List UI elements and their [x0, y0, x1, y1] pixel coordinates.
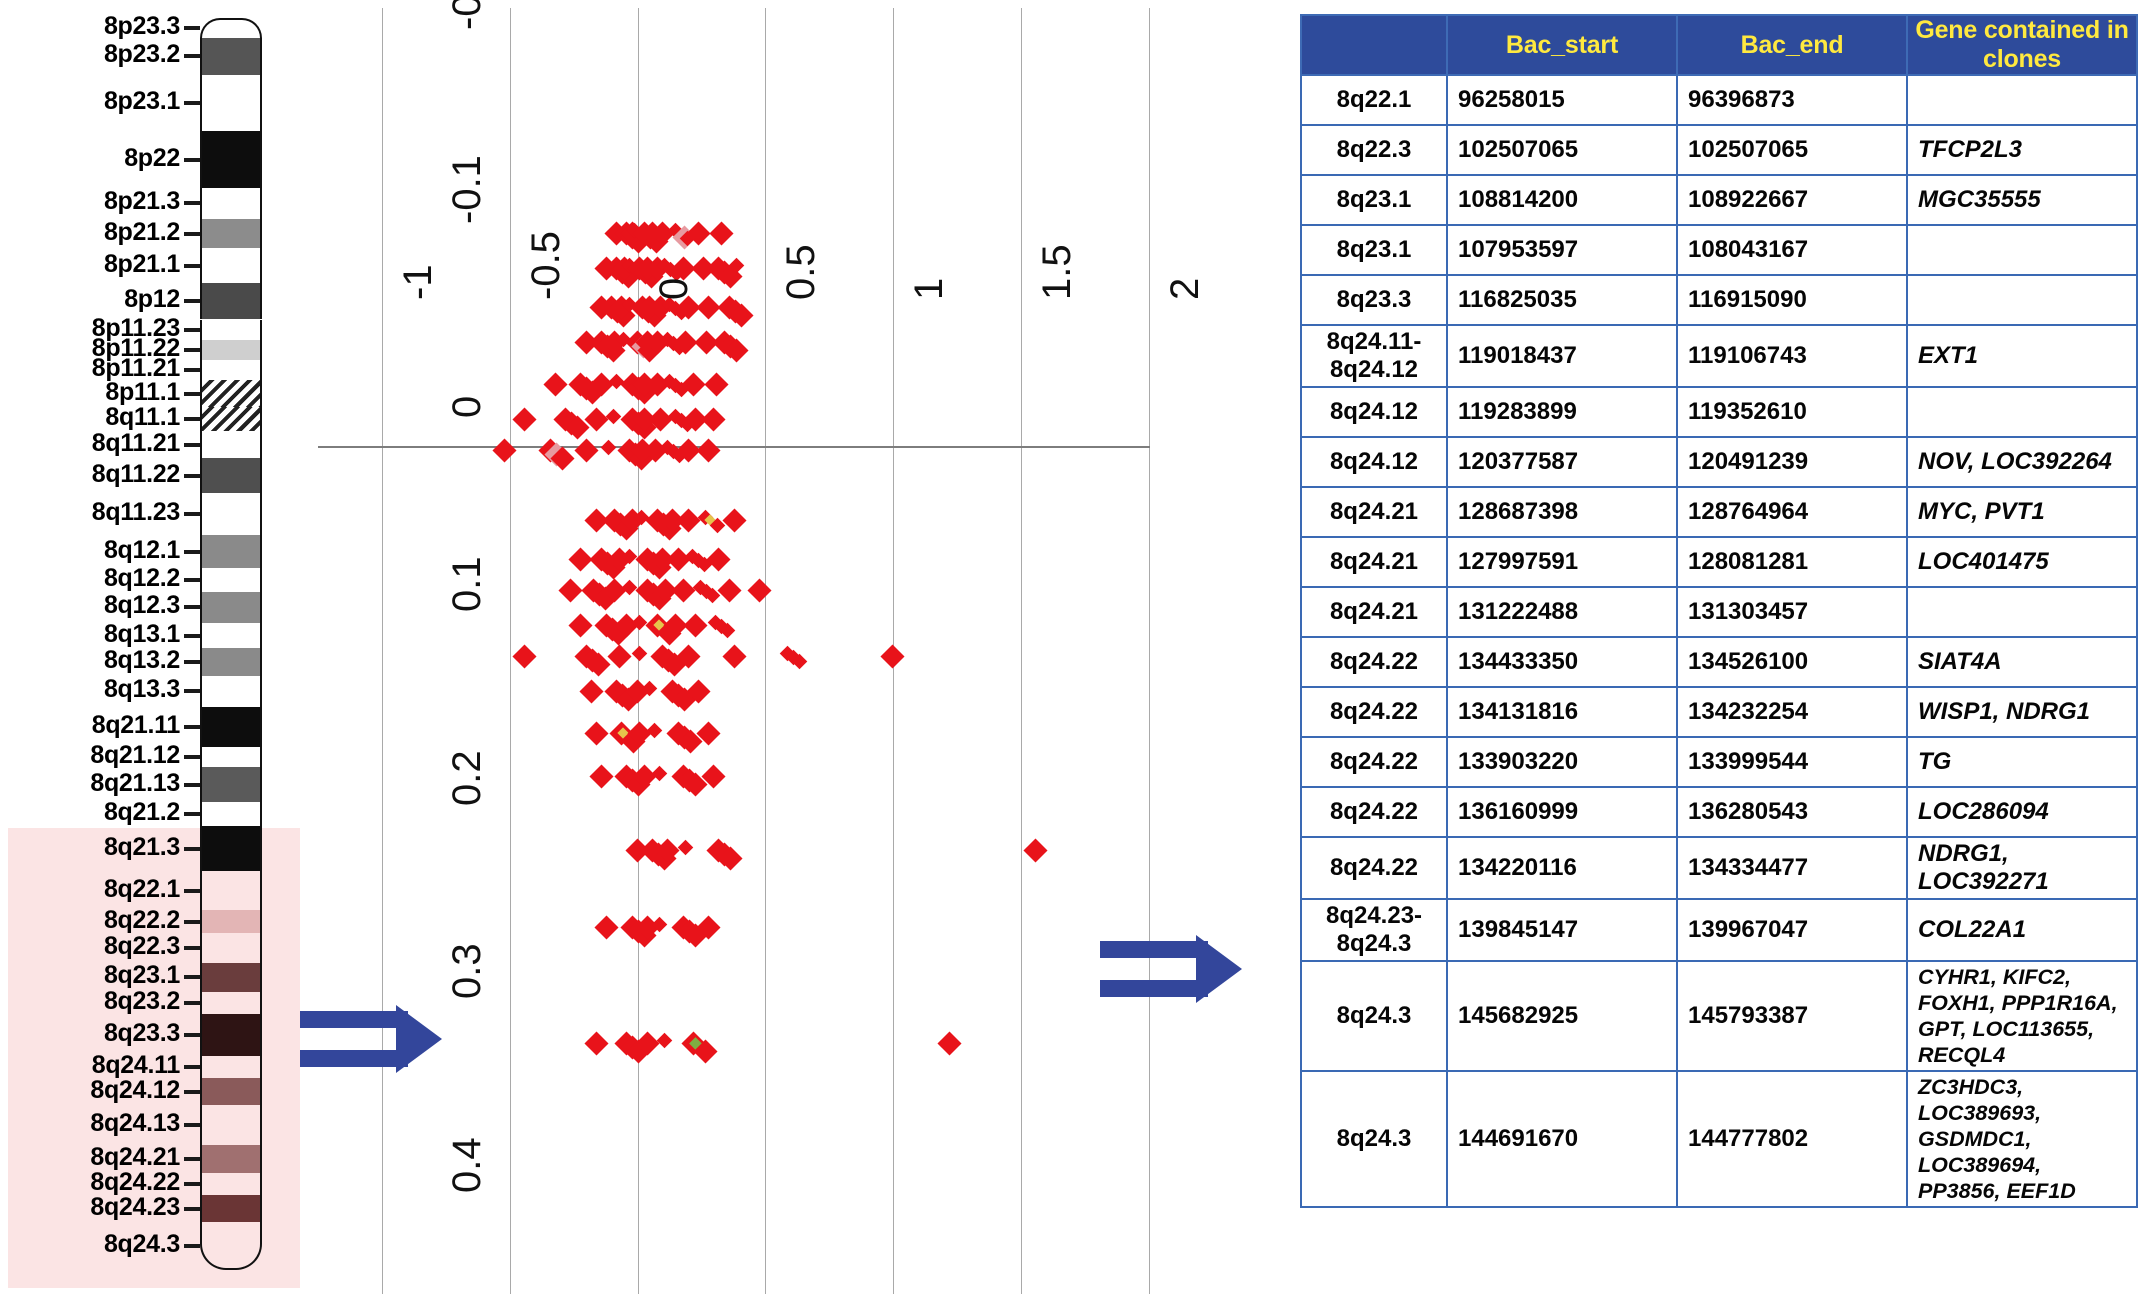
- cell-genes: [1907, 225, 2137, 275]
- ideogram-band: [200, 188, 262, 219]
- cell-bac-end: 108922667: [1677, 175, 1907, 225]
- band-tick: [184, 1182, 200, 1186]
- ideogram-band: [200, 963, 262, 992]
- band-label: 8q12.2: [104, 566, 180, 591]
- cell-bac-end: 102507065: [1677, 125, 1907, 175]
- band-label: 8q22.1: [104, 877, 180, 902]
- band-label: 8p21.1: [104, 252, 180, 277]
- data-point: [704, 373, 728, 397]
- data-point: [881, 644, 905, 668]
- table-row: 8q22.3102507065102507065TFCP2L3: [1301, 125, 2137, 175]
- cell-genes: LOC286094: [1907, 787, 2137, 837]
- band-label: 8p23.1: [104, 89, 180, 114]
- band-label: 8q11.23: [92, 500, 180, 525]
- table-row: 8q23.1107953597108043167: [1301, 225, 2137, 275]
- data-point: [606, 409, 622, 425]
- ideogram-band: [200, 648, 262, 675]
- cell-bac-start: 128687398: [1447, 487, 1677, 537]
- ideogram-band: [200, 592, 262, 623]
- ideogram-band: [200, 676, 262, 707]
- header-bac-start: Bac_start: [1447, 15, 1677, 75]
- data-point: [569, 613, 593, 637]
- band-label: 8q11.22: [92, 462, 180, 487]
- table-row: 8q24.22134433350134526100SIAT4A: [1301, 637, 2137, 687]
- band-label: 8p21.2: [104, 220, 180, 245]
- band-label: 8q24.11: [92, 1053, 180, 1078]
- cell-bac-end: 136280543: [1677, 787, 1907, 837]
- data-point: [707, 547, 731, 571]
- table-row: 8q24.23-8q24.3139845147139967047COL22A1: [1301, 899, 2137, 961]
- cell-genes: MGC35555: [1907, 175, 2137, 225]
- ideogram-band: [200, 407, 262, 431]
- band-tick: [184, 1001, 200, 1005]
- band-tick: [184, 847, 200, 851]
- cell-bac-end: 134232254: [1677, 687, 1907, 737]
- cell-genes: [1907, 387, 2137, 437]
- data-point: [513, 644, 537, 668]
- band-tick: [184, 889, 200, 893]
- table-row: 8q24.12119283899119352610: [1301, 387, 2137, 437]
- cell-bac-end: 119352610: [1677, 387, 1907, 437]
- band-label: 8q24.12: [90, 1078, 180, 1103]
- band-label: 8q11.21: [92, 431, 180, 456]
- table-row: 8q24.21128687398128764964MYC, PVT1: [1301, 487, 2137, 537]
- x-tick-label: 0.5: [779, 244, 824, 300]
- ideogram-band: [200, 933, 262, 962]
- cell-genes: COL22A1: [1907, 899, 2137, 961]
- band-label: 8q21.13: [90, 771, 180, 796]
- band-label: 8p11.21: [92, 356, 180, 381]
- ideogram-band: [200, 623, 262, 649]
- band-label: 8q21.2: [104, 800, 180, 825]
- ideogram-band: [200, 380, 262, 407]
- band-tick: [184, 1123, 200, 1127]
- table-row: 8q23.3116825035116915090: [1301, 275, 2137, 325]
- ideogram-band: [200, 535, 262, 568]
- data-point: [937, 1032, 961, 1056]
- ideogram-band: [200, 910, 262, 934]
- cell-genes: [1907, 275, 2137, 325]
- band-label: 8q24.22: [90, 1170, 180, 1195]
- band-label: 8p12: [124, 287, 180, 312]
- cell-cytoband: 8q24.23-8q24.3: [1301, 899, 1447, 961]
- vertical-gridline: [1149, 8, 1150, 1294]
- cell-bac-end: 108043167: [1677, 225, 1907, 275]
- x-tick-label: 2: [1163, 278, 1208, 300]
- cell-genes: NDRG1, LOC392271: [1907, 837, 2137, 899]
- band-label: 8q23.1: [104, 963, 180, 988]
- band-tick: [184, 328, 200, 332]
- chromosome-8-bands: [200, 18, 262, 1288]
- band-tick: [184, 812, 200, 816]
- data-point: [574, 439, 598, 463]
- cell-bac-end: 131303457: [1677, 587, 1907, 637]
- ideogram-band: [200, 131, 262, 188]
- band-label: 8q24.3: [104, 1232, 180, 1257]
- cell-bac-start: 96258015: [1447, 75, 1677, 125]
- band-tick: [184, 158, 200, 162]
- ideogram-band: [200, 871, 262, 909]
- cell-genes: MYC, PVT1: [1907, 487, 2137, 537]
- cell-bac-start: 136160999: [1447, 787, 1677, 837]
- data-point: [513, 408, 537, 432]
- cell-bac-start: 108814200: [1447, 175, 1677, 225]
- band-tick: [184, 975, 200, 979]
- clone-gene-table-panel: Bac_start Bac_end Gene contained in clon…: [1300, 14, 2138, 1289]
- table-body: 8q22.196258015963968738q22.3102507065102…: [1301, 75, 2137, 1207]
- data-point: [1024, 838, 1048, 862]
- cell-bac-start: 133903220: [1447, 737, 1677, 787]
- ideogram-band: [200, 219, 262, 248]
- band-tick: [184, 443, 200, 447]
- cell-bac-start: 134433350: [1447, 637, 1677, 687]
- cell-genes: TFCP2L3: [1907, 125, 2137, 175]
- y-tick-label: 0.4: [445, 1138, 490, 1194]
- table-row: 8q24.3144691670144777802ZC3HDC3, LOC3896…: [1301, 1071, 2137, 1207]
- band-tick: [184, 392, 200, 396]
- table-row: 8q24.22134131816134232254WISP1, NDRG1: [1301, 687, 2137, 737]
- clone-gene-table: Bac_start Bac_end Gene contained in clon…: [1300, 14, 2138, 1208]
- cell-genes: TG: [1907, 737, 2137, 787]
- vertical-gridline: [1021, 8, 1022, 1294]
- data-point: [594, 916, 618, 940]
- cell-bac-end: 120491239: [1677, 437, 1907, 487]
- band-label: 8p11.1: [105, 380, 180, 405]
- ideogram-band: [200, 75, 262, 132]
- cell-genes: LOC401475: [1907, 537, 2137, 587]
- cell-cytoband: 8q24.21: [1301, 487, 1447, 537]
- ideogram-band: [200, 340, 262, 360]
- cell-bac-end: 145793387: [1677, 961, 1907, 1071]
- cell-cytoband: 8q24.21: [1301, 587, 1447, 637]
- ideogram-band: [200, 1056, 262, 1078]
- band-label: 8p22: [124, 146, 180, 171]
- x-tick-label: 1.5: [1035, 244, 1080, 300]
- header-cytoband: [1301, 15, 1447, 75]
- arrow-ideogram-to-plot: [300, 1005, 450, 1073]
- table-row: 8q24.21127997591128081281LOC401475: [1301, 537, 2137, 587]
- cell-cytoband: 8q23.1: [1301, 175, 1447, 225]
- band-tick: [184, 634, 200, 638]
- data-point: [748, 578, 772, 602]
- cell-genes: [1907, 75, 2137, 125]
- band-label: 8q24.23: [90, 1195, 180, 1220]
- ideogram-band: [200, 493, 262, 535]
- data-point: [584, 722, 608, 746]
- cell-bac-end: 133999544: [1677, 737, 1907, 787]
- ideogram-band: [200, 1014, 262, 1056]
- scatter-plot-panel: -1-0.500.511.52 -0.2-0.100.10.20.30.4: [300, 0, 1320, 1302]
- data-point: [702, 408, 726, 432]
- ideogram-band: [200, 747, 262, 767]
- band-tick: [184, 725, 200, 729]
- y-tick-label: 0.2: [445, 750, 490, 806]
- band-tick: [184, 299, 200, 303]
- ideogram-band: [200, 826, 262, 872]
- cell-bac-start: 107953597: [1447, 225, 1677, 275]
- data-point: [671, 578, 695, 602]
- band-tick: [184, 101, 200, 105]
- ideogram-band: [200, 38, 262, 75]
- cell-genes: NOV, LOC392264: [1907, 437, 2137, 487]
- ideogram-band: [200, 360, 262, 380]
- band-tick: [184, 1157, 200, 1161]
- data-point: [717, 578, 741, 602]
- y-tick-label: 0: [445, 396, 490, 418]
- data-point: [678, 839, 694, 855]
- data-point: [601, 440, 617, 456]
- ideogram-band: [200, 1222, 262, 1270]
- cell-cytoband: 8q24.3: [1301, 961, 1447, 1071]
- x-tick-label: 0: [652, 278, 697, 300]
- band-label: 8q23.3: [104, 1021, 180, 1046]
- header-gene-contained: Gene contained in clones: [1907, 15, 2137, 75]
- table-row: 8q24.22134220116134334477NDRG1, LOC39227…: [1301, 837, 2137, 899]
- band-tick: [184, 201, 200, 205]
- band-label: 8q21.11: [92, 713, 180, 738]
- cell-bac-end: 128764964: [1677, 487, 1907, 537]
- band-tick: [184, 348, 200, 352]
- ideogram-band: [200, 248, 262, 283]
- band-tick: [184, 605, 200, 609]
- cell-genes: [1907, 587, 2137, 637]
- x-tick-label: -0.5: [524, 231, 569, 300]
- data-point: [722, 644, 746, 668]
- band-label: 8q23.2: [104, 989, 180, 1014]
- band-label: 8q21.3: [104, 835, 180, 860]
- cell-cytoband: 8q24.11-8q24.12: [1301, 325, 1447, 387]
- band-tick: [184, 474, 200, 478]
- band-tick: [184, 417, 200, 421]
- band-tick: [184, 1244, 200, 1248]
- band-tick: [184, 689, 200, 693]
- band-tick: [184, 755, 200, 759]
- x-tick-label: 1: [907, 278, 952, 300]
- band-tick: [184, 232, 200, 236]
- table-row: 8q24.11-8q24.12119018437119106743EXT1: [1301, 325, 2137, 387]
- cell-bac-end: 96396873: [1677, 75, 1907, 125]
- band-tick: [184, 1207, 200, 1211]
- cell-cytoband: 8q24.22: [1301, 687, 1447, 737]
- header-bac-end: Bac_end: [1677, 15, 1907, 75]
- band-label: 8q13.3: [104, 677, 180, 702]
- y-tick-label: -0.2: [445, 0, 490, 30]
- band-tick: [184, 26, 200, 30]
- x-tick-label: -1: [396, 264, 441, 300]
- data-point: [607, 644, 631, 668]
- data-point: [652, 766, 668, 782]
- band-label: 8q24.21: [90, 1145, 180, 1170]
- ideogram-band: [200, 802, 262, 826]
- ideogram-band: [200, 458, 262, 493]
- cell-bac-start: 139845147: [1447, 899, 1677, 961]
- table-row: 8q24.3145682925145793387CYHR1, KIFC2, FO…: [1301, 961, 2137, 1071]
- ideogram-band: [200, 992, 262, 1014]
- cell-bac-start: 127997591: [1447, 537, 1677, 587]
- data-point: [543, 373, 567, 397]
- band-tick: [184, 660, 200, 664]
- data-point: [584, 1032, 608, 1056]
- band-label: 8q22.2: [104, 908, 180, 933]
- table-row: 8q24.12120377587120491239NOV, LOC392264: [1301, 437, 2137, 487]
- band-tick: [184, 1065, 200, 1069]
- data-point: [579, 679, 603, 703]
- arrow-plot-to-table: [1100, 935, 1280, 1003]
- cell-bac-start: 119283899: [1447, 387, 1677, 437]
- band-label: 8p21.3: [104, 189, 180, 214]
- cell-bac-end: 134526100: [1677, 637, 1907, 687]
- cell-bac-start: 134220116: [1447, 837, 1677, 899]
- cell-cytoband: 8q22.1: [1301, 75, 1447, 125]
- y-tick-label: 0.1: [445, 556, 490, 612]
- cell-bac-start: 145682925: [1447, 961, 1677, 1071]
- data-point: [722, 508, 746, 532]
- data-point: [710, 222, 734, 246]
- cell-bac-end: 128081281: [1677, 537, 1907, 587]
- band-label: 8q12.3: [104, 593, 180, 618]
- cell-bac-end: 139967047: [1677, 899, 1907, 961]
- band-tick: [184, 54, 200, 58]
- ideogram-band: [200, 1145, 262, 1172]
- cell-cytoband: 8q24.22: [1301, 787, 1447, 837]
- ideogram-band: [200, 1195, 262, 1222]
- cell-cytoband: 8q24.21: [1301, 537, 1447, 587]
- ideogram-band: [200, 767, 262, 802]
- cell-bac-end: 116915090: [1677, 275, 1907, 325]
- cell-cytoband: 8q23.1: [1301, 225, 1447, 275]
- table-row: 8q22.19625801596396873: [1301, 75, 2137, 125]
- y-tick-label: -0.1: [445, 155, 490, 224]
- band-label: 8q22.3: [104, 934, 180, 959]
- cell-cytoband: 8q24.12: [1301, 437, 1447, 487]
- band-label: 8q11.1: [105, 405, 180, 430]
- chromosome-ideogram-panel: 8p23.38p23.28p23.18p228p21.38p21.28p21.1…: [0, 0, 300, 1302]
- band-label: 8q24.13: [90, 1111, 180, 1136]
- data-point: [492, 439, 516, 463]
- cell-bac-start: 131222488: [1447, 587, 1677, 637]
- vertical-gridline: [765, 8, 766, 1294]
- ideogram-band: [200, 431, 262, 458]
- ideogram-band: [200, 568, 262, 592]
- ideogram-band: [200, 1173, 262, 1195]
- cell-cytoband: 8q24.22: [1301, 737, 1447, 787]
- cell-cytoband: 8q22.3: [1301, 125, 1447, 175]
- band-tick: [184, 578, 200, 582]
- cell-bac-start: 134131816: [1447, 687, 1677, 737]
- data-point: [684, 613, 708, 637]
- band-tick: [184, 550, 200, 554]
- table-header-row: Bac_start Bac_end Gene contained in clon…: [1301, 15, 2137, 75]
- band-tick: [184, 783, 200, 787]
- cell-cytoband: 8q24.12: [1301, 387, 1447, 437]
- cell-cytoband: 8q24.22: [1301, 637, 1447, 687]
- cell-bac-start: 102507065: [1447, 125, 1677, 175]
- cell-bac-start: 144691670: [1447, 1071, 1677, 1207]
- band-label: 8q21.12: [90, 743, 180, 768]
- ideogram-band: [200, 1105, 262, 1145]
- table-row: 8q24.22136160999136280543LOC286094: [1301, 787, 2137, 837]
- ideogram-band: [200, 283, 262, 320]
- ideogram-band: [200, 707, 262, 747]
- band-label: 8q13.1: [104, 622, 180, 647]
- ideogram-band: [200, 1078, 262, 1105]
- band-tick: [184, 920, 200, 924]
- cell-bac-start: 116825035: [1447, 275, 1677, 325]
- ideogram-band: [200, 320, 262, 340]
- cell-bac-end: 144777802: [1677, 1071, 1907, 1207]
- cell-bac-start: 120377587: [1447, 437, 1677, 487]
- band-tick: [184, 368, 200, 372]
- cell-genes: SIAT4A: [1907, 637, 2137, 687]
- data-point: [559, 578, 583, 602]
- data-point: [632, 645, 648, 661]
- cell-bac-end: 134334477: [1677, 837, 1907, 899]
- vertical-gridline: [510, 8, 511, 1294]
- data-point: [697, 439, 721, 463]
- cell-cytoband: 8q24.22: [1301, 837, 1447, 899]
- table-row: 8q23.1108814200108922667MGC35555: [1301, 175, 2137, 225]
- vertical-gridline: [382, 8, 383, 1294]
- data-point: [657, 1033, 673, 1049]
- band-label: 8p23.3: [104, 14, 180, 39]
- table-row: 8q24.22133903220133999544TG: [1301, 737, 2137, 787]
- band-label: 8p23.2: [104, 42, 180, 67]
- band-tick: [184, 512, 200, 516]
- cell-genes: CYHR1, KIFC2, FOXH1, PPP1R16A, GPT, LOC1…: [1907, 961, 2137, 1071]
- band-tick: [184, 1090, 200, 1094]
- cell-genes: ZC3HDC3, LOC389693, GSDMDC1, LOC389694, …: [1907, 1071, 2137, 1207]
- y-tick-label: 0.3: [445, 944, 490, 1000]
- band-tick: [184, 264, 200, 268]
- band-tick: [184, 946, 200, 950]
- data-point: [589, 764, 613, 788]
- data-point: [647, 723, 663, 739]
- band-label: 8q12.1: [104, 538, 180, 563]
- ideogram-band: [200, 18, 262, 38]
- cell-genes: WISP1, NDRG1: [1907, 687, 2137, 737]
- zero-axis-line: [318, 446, 1150, 448]
- cell-cytoband: 8q23.3: [1301, 275, 1447, 325]
- band-tick: [184, 1033, 200, 1037]
- cell-cytoband: 8q24.3: [1301, 1071, 1447, 1207]
- cell-bac-start: 119018437: [1447, 325, 1677, 387]
- cell-genes: EXT1: [1907, 325, 2137, 387]
- band-label: 8q13.2: [104, 648, 180, 673]
- table-row: 8q24.21131222488131303457: [1301, 587, 2137, 637]
- cell-bac-end: 119106743: [1677, 325, 1907, 387]
